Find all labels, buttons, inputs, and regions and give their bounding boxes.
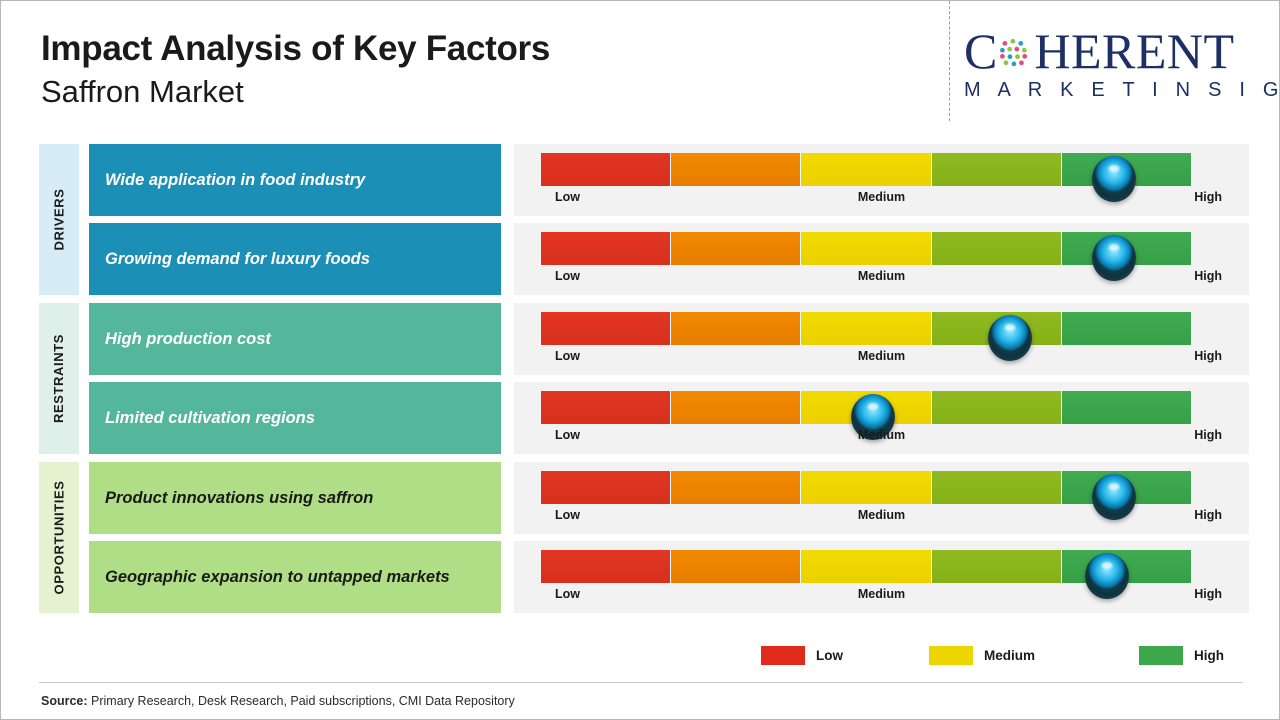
gauge-segment-1 xyxy=(541,550,671,583)
gauge-scale-labels: LowMediumHigh xyxy=(541,587,1222,605)
globe-dots-icon xyxy=(997,34,1033,70)
legend-item: Low xyxy=(761,646,843,665)
impact-gauge: LowMediumHigh xyxy=(514,144,1249,216)
gauge-label-medium: Medium xyxy=(858,190,905,204)
gauge-segment-4 xyxy=(932,232,1062,265)
logo-letters-rest: HERENT xyxy=(1034,29,1234,73)
gauge-label-low: Low xyxy=(555,508,580,522)
gauge-segment-2 xyxy=(671,153,801,186)
matrix-row: High production costLowMediumHigh xyxy=(39,303,1249,375)
gauge-segment-2 xyxy=(671,312,801,345)
factor-label: Growing demand for luxury foods xyxy=(105,250,370,269)
gauge-label-low: Low xyxy=(555,190,580,204)
gauge-segment-1 xyxy=(541,153,671,186)
gauge-scale-labels: LowMediumHigh xyxy=(541,269,1222,287)
gauge-label-high: High xyxy=(1194,349,1222,363)
gauge-label-high: High xyxy=(1194,587,1222,601)
impact-gauge: LowMediumHigh xyxy=(514,541,1249,613)
slide-canvas: Impact Analysis of Key Factors Saffron M… xyxy=(0,0,1280,720)
gauge-segment-4 xyxy=(932,471,1062,504)
factor-label: High production cost xyxy=(105,330,271,349)
gauge-segment-4 xyxy=(932,391,1062,424)
gauge-segment-1 xyxy=(541,391,671,424)
factor-label: Product innovations using saffron xyxy=(105,489,373,508)
gauge-label-medium: Medium xyxy=(858,269,905,283)
gauge-segment-2 xyxy=(671,391,801,424)
legend-label: Low xyxy=(816,648,843,663)
gauge-segment-5 xyxy=(1062,312,1192,345)
matrix-row: Geographic expansion to untapped markets… xyxy=(39,541,1249,613)
factor-label: Wide application in food industry xyxy=(105,171,365,190)
impact-gauge: LowMediumHigh xyxy=(514,223,1249,295)
legend-swatch-high xyxy=(1139,646,1183,665)
impact-gauge: LowMediumHigh xyxy=(514,462,1249,534)
gauge-label-high: High xyxy=(1194,428,1222,442)
footer-divider xyxy=(39,682,1243,683)
logo-wordmark: C HERENT xyxy=(964,27,1264,75)
header-divider xyxy=(949,1,950,121)
gauge-segment-3 xyxy=(801,312,931,345)
factor-label-cell[interactable]: Product innovations using saffron xyxy=(89,462,501,534)
gauge-label-low: Low xyxy=(555,269,580,283)
company-logo: C HERENT M A R K E T I N S I G H T S xyxy=(964,27,1264,105)
logo-tagline: M A R K E T I N S I G H T S xyxy=(964,79,1264,102)
page-title: Impact Analysis of Key Factors xyxy=(41,31,550,67)
gauge-scale-labels: LowMediumHigh xyxy=(541,428,1222,446)
gauge-segment-1 xyxy=(541,312,671,345)
legend-item: Medium xyxy=(929,646,1035,665)
gauge-segment-4 xyxy=(932,550,1062,583)
gauge-label-medium: Medium xyxy=(858,587,905,601)
gauge-segment-5 xyxy=(1062,391,1192,424)
factor-label-cell[interactable]: Wide application in food industry xyxy=(89,144,501,216)
gauge-label-high: High xyxy=(1194,190,1222,204)
matrix-row: Product innovations using saffronLowMedi… xyxy=(39,462,1249,534)
gauge-label-low: Low xyxy=(555,428,580,442)
gauge-segment-3 xyxy=(801,232,931,265)
legend-swatch-medium xyxy=(929,646,973,665)
source-label: Source: xyxy=(41,694,88,708)
gauge-scale-labels: LowMediumHigh xyxy=(541,508,1222,526)
title-block: Impact Analysis of Key Factors Saffron M… xyxy=(41,31,550,108)
legend: LowMediumHigh xyxy=(761,646,1201,670)
impact-gauge: LowMediumHigh xyxy=(514,303,1249,375)
gauge-label-low: Low xyxy=(555,349,580,363)
source-text: Primary Research, Desk Research, Paid su… xyxy=(88,694,515,708)
gauge-bar xyxy=(541,312,1192,345)
gauge-label-high: High xyxy=(1194,269,1222,283)
matrix-row: Wide application in food industryLowMedi… xyxy=(39,144,1249,216)
gauge-bar xyxy=(541,550,1192,583)
gauge-segment-1 xyxy=(541,232,671,265)
gauge-label-medium: Medium xyxy=(858,428,905,442)
factor-label-cell[interactable]: Growing demand for luxury foods xyxy=(89,223,501,295)
factor-label-cell[interactable]: High production cost xyxy=(89,303,501,375)
page-subtitle: Saffron Market xyxy=(41,76,550,109)
gauge-segment-1 xyxy=(541,471,671,504)
gauge-segment-2 xyxy=(671,550,801,583)
gauge-bar xyxy=(541,232,1192,265)
factor-group-drivers: DRIVERSWide application in food industry… xyxy=(39,144,1249,295)
factor-group-restraints: RESTRAINTSHigh production costLowMediumH… xyxy=(39,303,1249,454)
impact-gauge: LowMediumHigh xyxy=(514,382,1249,454)
gauge-segment-3 xyxy=(801,471,931,504)
legend-label: High xyxy=(1194,648,1224,663)
gauge-segment-2 xyxy=(671,471,801,504)
legend-swatch-low xyxy=(761,646,805,665)
factor-label: Geographic expansion to untapped markets xyxy=(105,568,450,587)
legend-item: High xyxy=(1139,646,1224,665)
gauge-bar xyxy=(541,471,1192,504)
gauge-label-medium: Medium xyxy=(858,349,905,363)
matrix-row: Growing demand for luxury foodsLowMedium… xyxy=(39,223,1249,295)
gauge-scale-labels: LowMediumHigh xyxy=(541,349,1222,367)
factor-label-cell[interactable]: Geographic expansion to untapped markets xyxy=(89,541,501,613)
gauge-segment-4 xyxy=(932,153,1062,186)
gauge-segment-2 xyxy=(671,232,801,265)
gauge-segment-3 xyxy=(801,550,931,583)
gauge-label-medium: Medium xyxy=(858,508,905,522)
factor-label: Limited cultivation regions xyxy=(105,409,315,428)
legend-label: Medium xyxy=(984,648,1035,663)
logo-letter-c: C xyxy=(964,29,997,73)
factor-label-cell[interactable]: Limited cultivation regions xyxy=(89,382,501,454)
factor-group-opportunities: OPPORTUNITIESProduct innovations using s… xyxy=(39,462,1249,613)
gauge-bar xyxy=(541,153,1192,186)
gauge-scale-labels: LowMediumHigh xyxy=(541,190,1222,208)
gauge-segment-3 xyxy=(801,153,931,186)
header: Impact Analysis of Key Factors Saffron M… xyxy=(1,1,1280,129)
matrix-row: Limited cultivation regionsLowMediumHigh xyxy=(39,382,1249,454)
gauge-label-low: Low xyxy=(555,587,580,601)
gauge-bar xyxy=(541,391,1192,424)
gauge-label-high: High xyxy=(1194,508,1222,522)
source-note: Source: Primary Research, Desk Research,… xyxy=(41,694,515,708)
